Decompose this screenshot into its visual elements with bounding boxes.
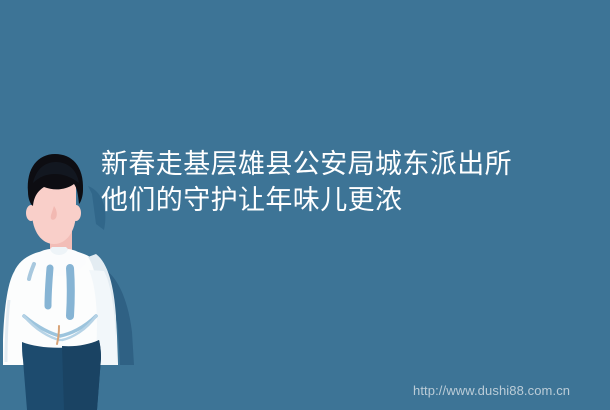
hoodie: [3, 247, 118, 365]
drawstring-left: [48, 268, 50, 306]
headline: 新春走基层雄县公安局城东派出所 他们的守护让年味儿更浓: [101, 146, 601, 218]
article-cover-image: 新春走基层雄县公安局城东派出所 他们的守护让年味儿更浓 http://www.d…: [0, 0, 610, 410]
drawstring-right: [70, 268, 71, 316]
pants: [22, 340, 101, 410]
headline-line-1: 新春走基层雄县公安局城东派出所: [101, 146, 601, 182]
headline-line-2: 他们的守护让年味儿更浓: [101, 182, 601, 218]
watermark-url: http://www.dushi88.com.cn: [413, 383, 570, 399]
